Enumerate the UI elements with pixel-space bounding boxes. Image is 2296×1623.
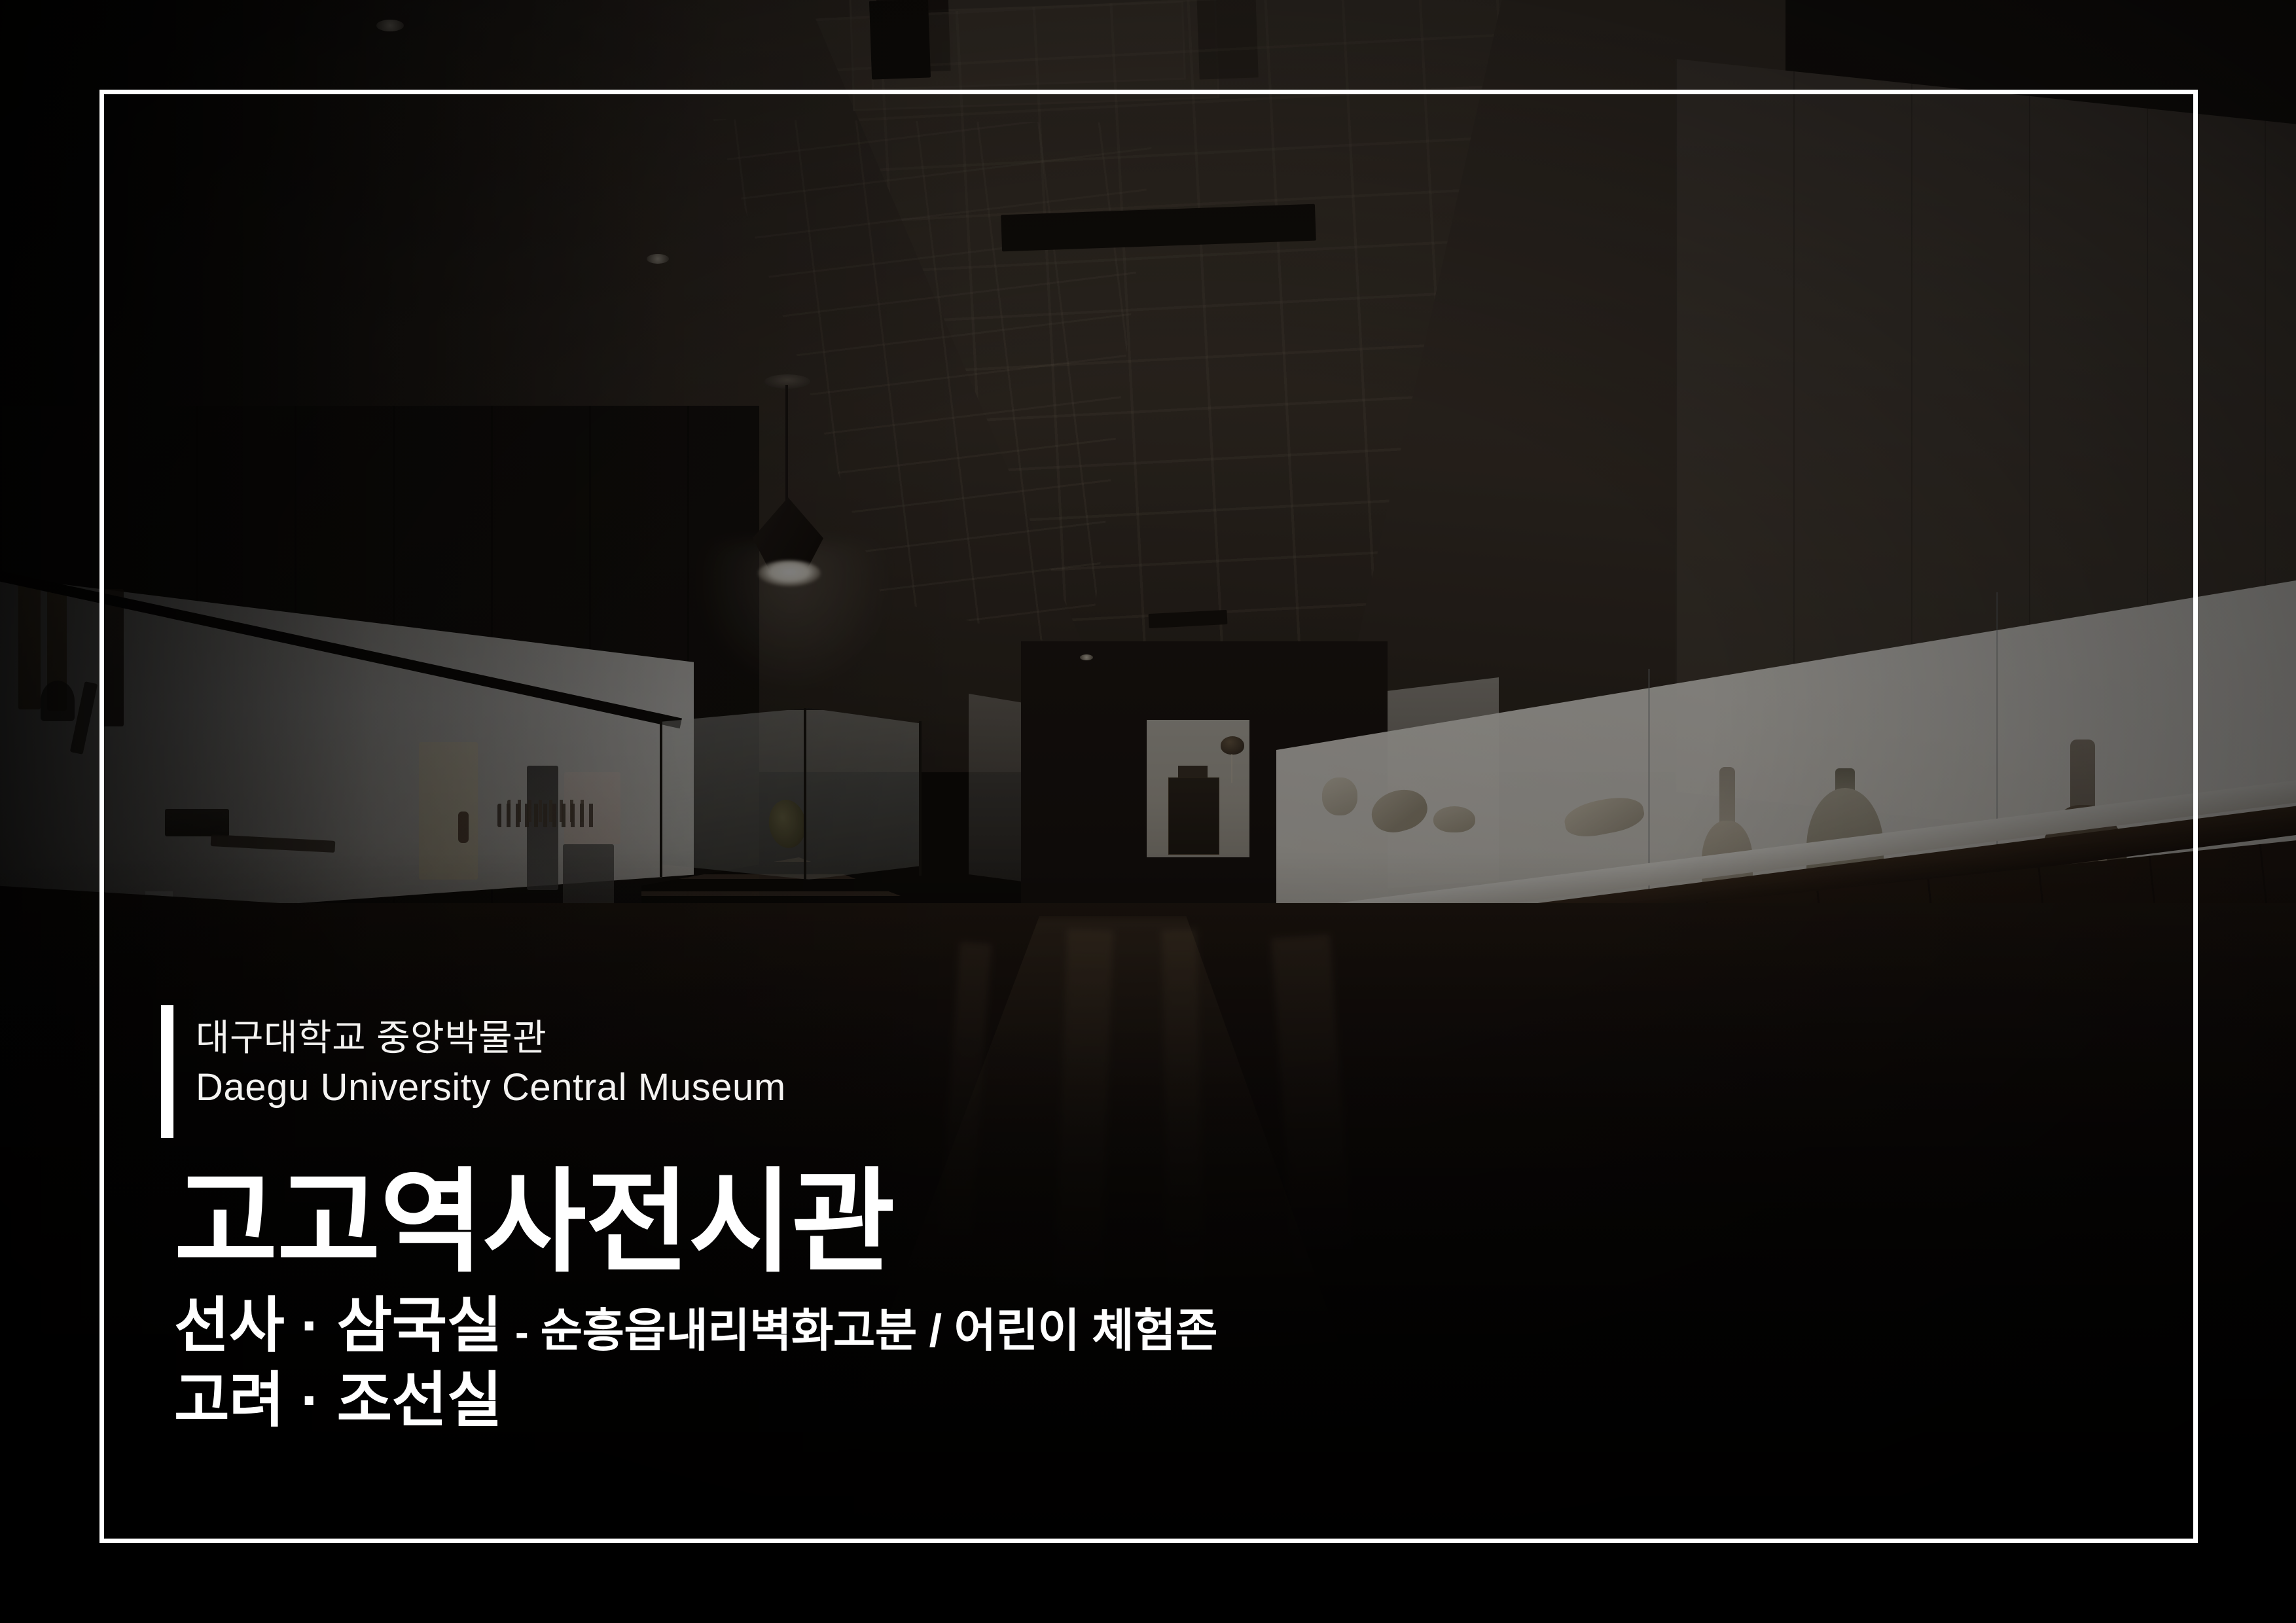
page-title: 고고역사전시관 bbox=[174, 1166, 1217, 1280]
ceiling-spotlight bbox=[376, 20, 404, 31]
museum-name-group: 대구대학교 중앙박물관 Daegu University Central Mus… bbox=[196, 1005, 786, 1113]
accent-bar bbox=[161, 1005, 173, 1138]
center-glass-vitrine bbox=[660, 708, 922, 880]
museum-identity: 대구대학교 중앙박물관 Daegu University Central Mus… bbox=[161, 1005, 1217, 1138]
ceiling-air-vent bbox=[869, 0, 931, 80]
subtitle-primary-gallery: 선사 · 삼국실 bbox=[174, 1294, 502, 1359]
subtitle-separator: - bbox=[515, 1313, 529, 1353]
pendant-lamp-glow bbox=[758, 560, 821, 586]
museum-name-english: Daegu University Central Museum bbox=[196, 1062, 786, 1113]
ceiling-spotlight bbox=[1080, 654, 1093, 660]
ceiling-spotlight bbox=[647, 254, 669, 264]
subtitle-line-1: 선사 · 삼국실 - 순흥읍내리벽화고분 / 어린이 체험존 bbox=[174, 1294, 1217, 1359]
vitrine-edge bbox=[919, 721, 922, 876]
poster-text-block: 대구대학교 중앙박물관 Daegu University Central Mus… bbox=[161, 1005, 1217, 1433]
poster-canvas: 대구대학교 중앙박물관 Daegu University Central Mus… bbox=[0, 0, 2296, 1623]
vessel-hanging-cord bbox=[1231, 754, 1232, 783]
vitrine-edge bbox=[660, 720, 662, 877]
museum-name-korean: 대구대학교 중앙박물관 bbox=[196, 1013, 786, 1062]
pendant-lamp-cord bbox=[785, 385, 788, 501]
subtitle-secondary-gallery: 순흥읍내리벽화고분 / 어린이 체험존 bbox=[541, 1306, 1217, 1355]
wooden-chest-artifact bbox=[1168, 777, 1219, 855]
subtitle-line-2: 고려 · 조선실 bbox=[174, 1369, 1217, 1433]
vitrine-edge bbox=[804, 708, 806, 880]
hanging-vessel-artifact bbox=[1221, 736, 1244, 755]
